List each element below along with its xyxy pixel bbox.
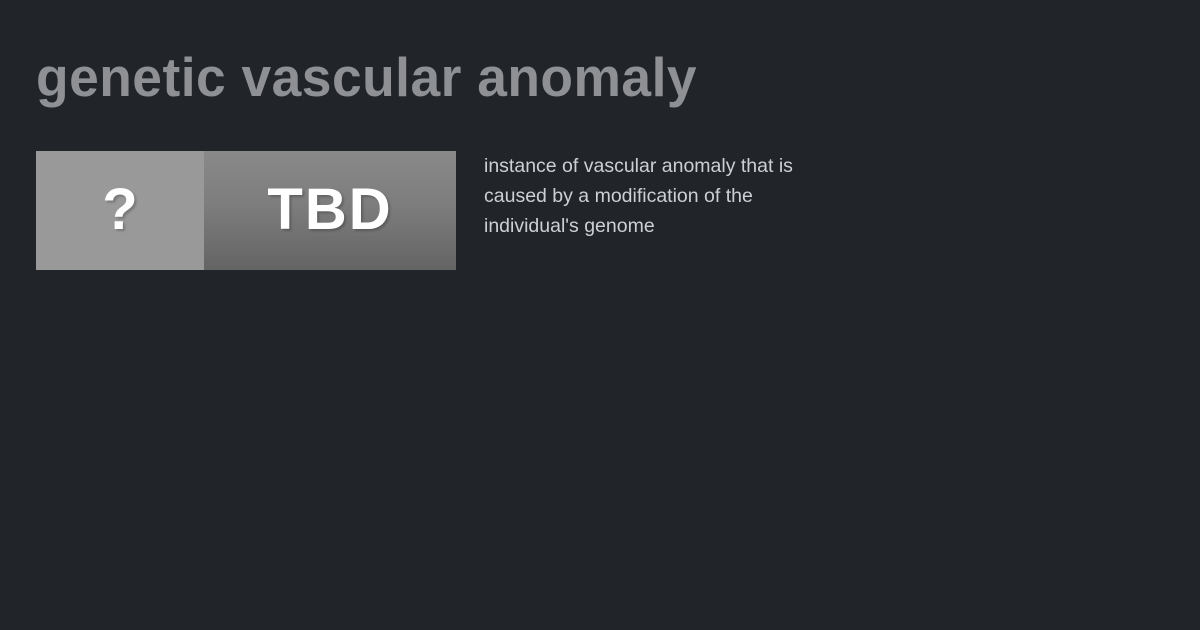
entity-description: instance of vascular anomaly that is cau… [484,151,829,241]
question-mark-icon: ? [102,181,137,239]
page-title: genetic vascular anomaly [36,44,1132,110]
open-graph-preview-card: genetic vascular anomaly ? TBD instance … [0,0,1200,630]
entity-body: ? TBD instance of vascular anomaly that … [36,151,1166,270]
status-badge: TBD [267,181,392,239]
image-placeholder-panel: ? [36,151,204,270]
entity-image-placeholder-card: ? TBD [36,151,456,270]
image-status-panel: TBD [204,151,456,270]
